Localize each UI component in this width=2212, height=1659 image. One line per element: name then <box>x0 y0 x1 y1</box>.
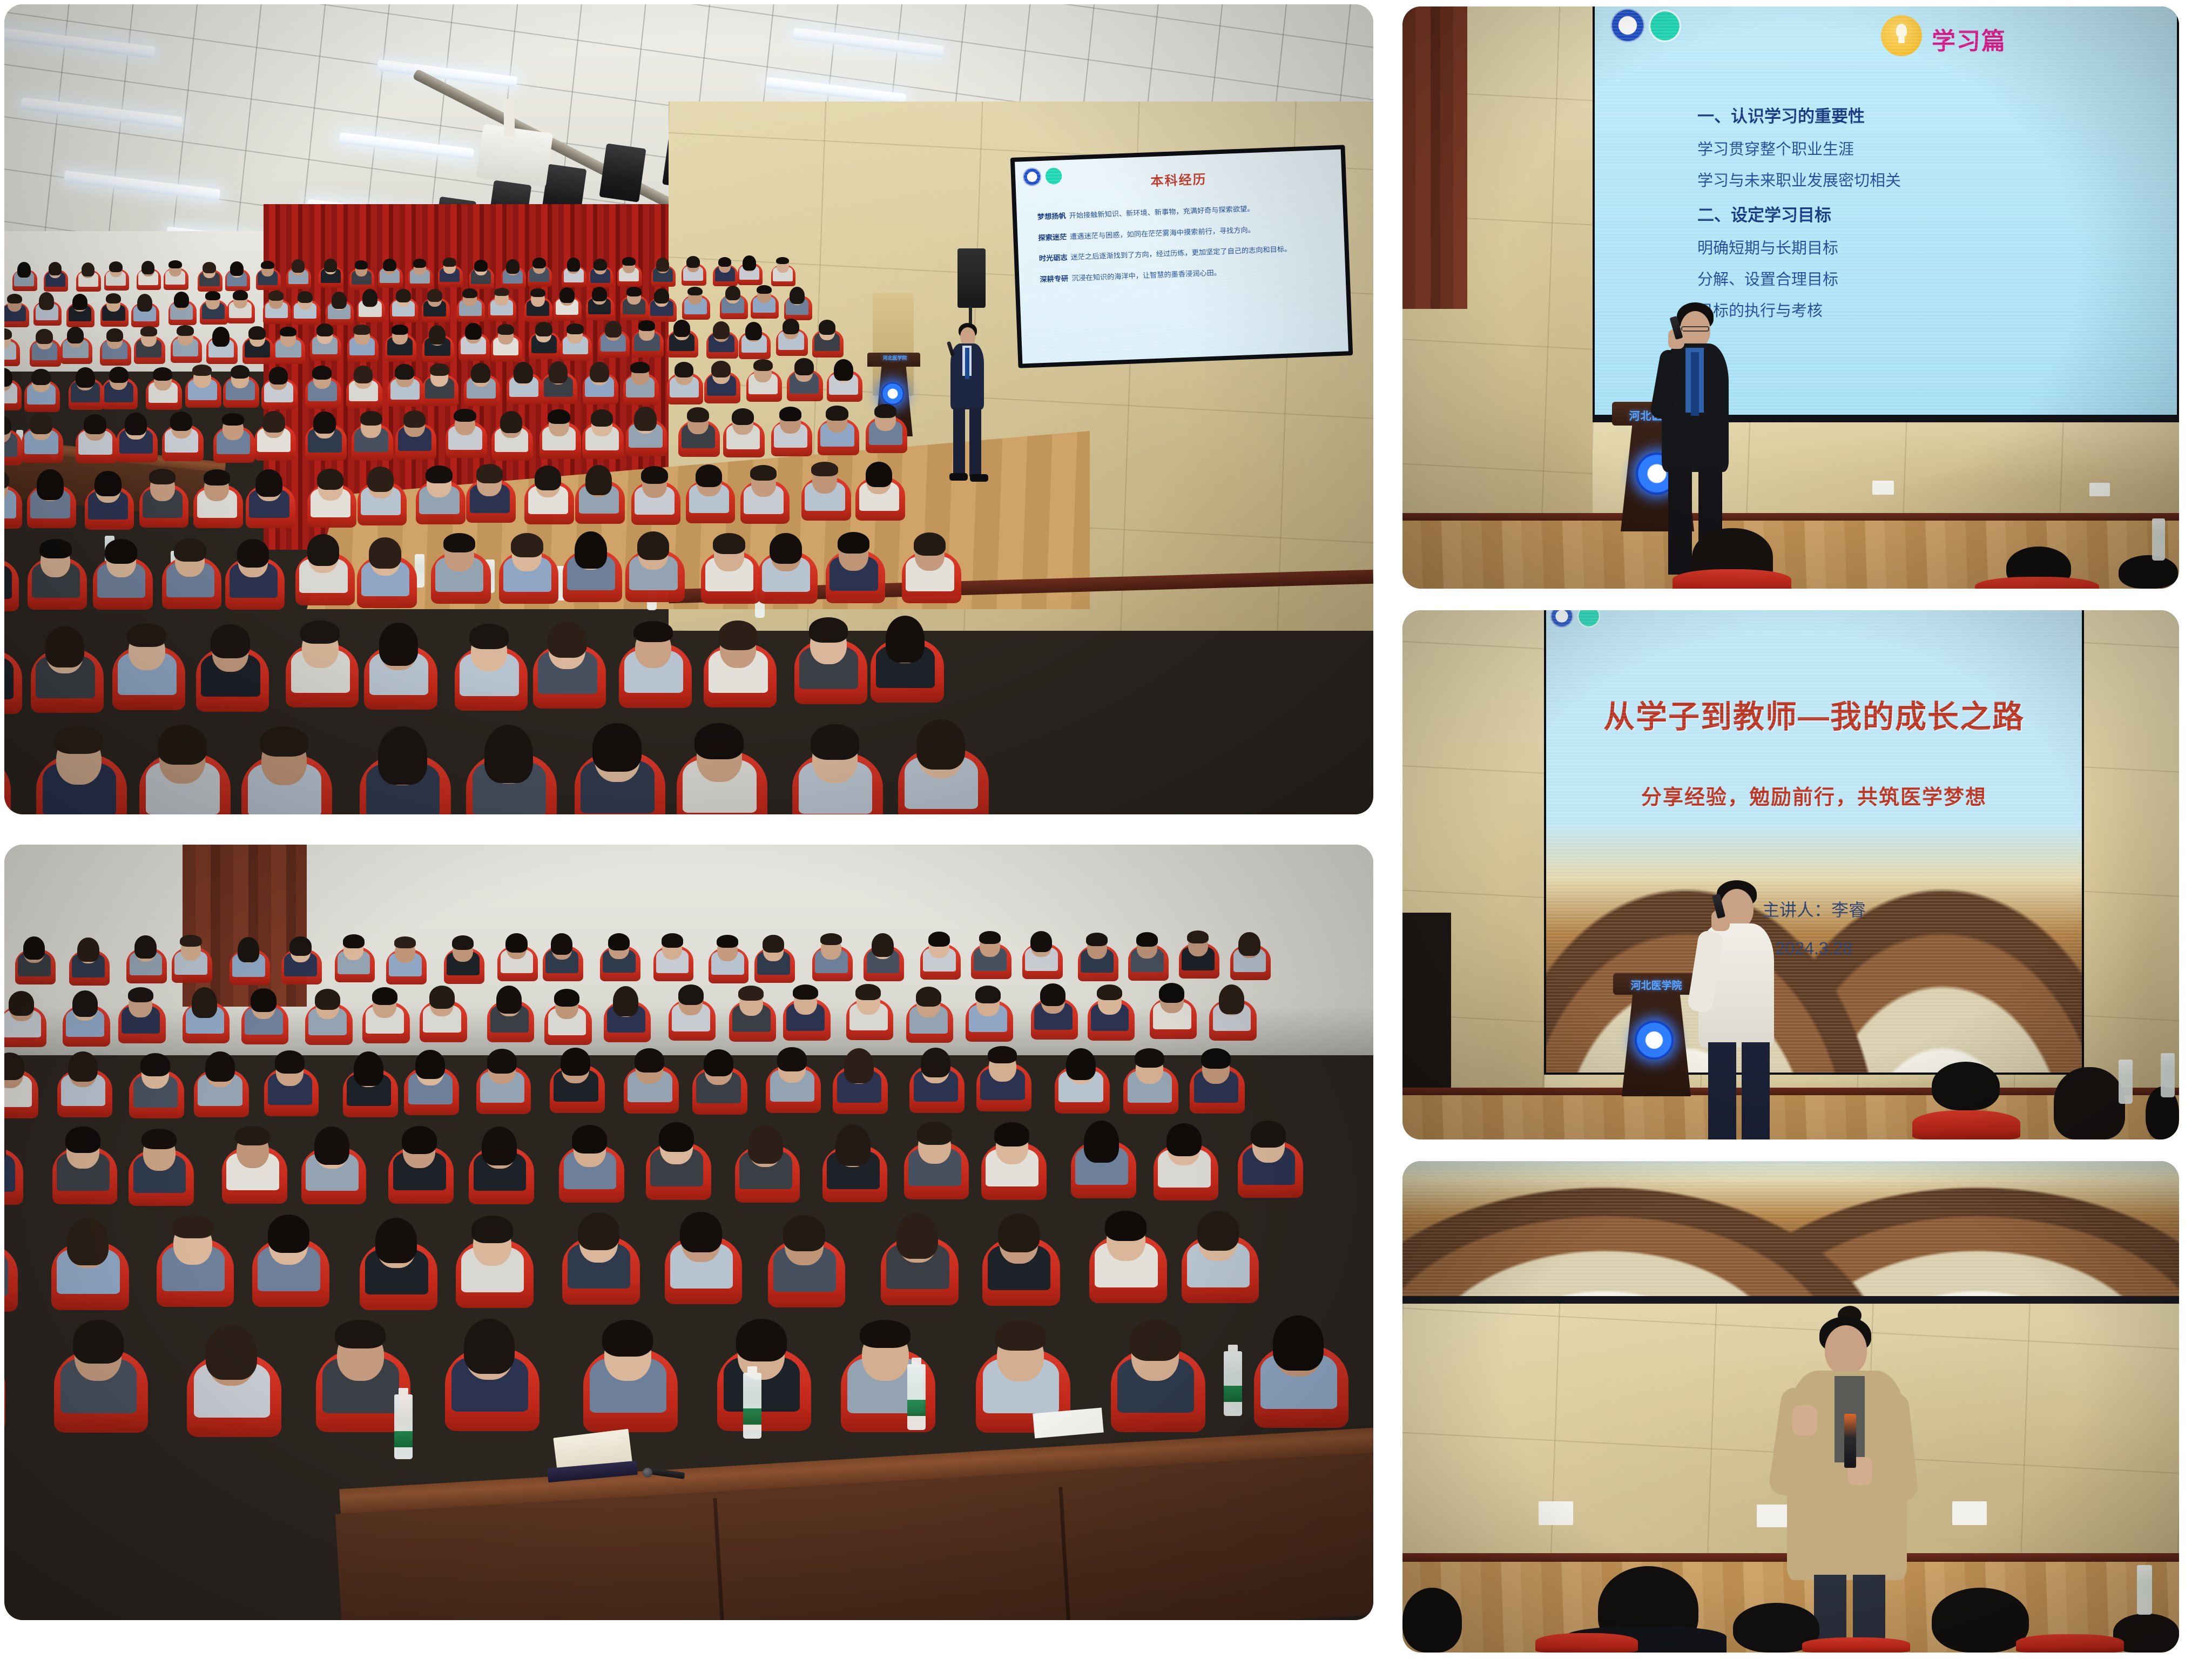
photo-collage: 本科经历 梦想扬帆 开始接触新知识、新环境、新事物，充满好奇与探索欲望。 探索迷… <box>0 0 2212 1659</box>
photo-vignette <box>1402 1161 2179 1653</box>
panel-speaker-study-slide: 学习篇 一、认识学习的重要性 学习贯穿整个职业生涯 学习与未来职业发展密切相关 … <box>1402 6 2179 589</box>
photo-vignette <box>4 4 1373 814</box>
panel-lecture-hall-wide-view: 本科经历 梦想扬帆 开始接触新知识、新环境、新事物，充满好奇与探索欲望。 探索迷… <box>4 4 1373 814</box>
photo-vignette <box>1402 610 2179 1139</box>
panel-female-speaker-view <box>1402 1161 2179 1653</box>
panel-title-slide-speaker: 从学子到教师—我的成长之路 分享经验，勉励前行，共筑医学梦想 主讲人：李睿 20… <box>1402 610 2179 1139</box>
panel-audience-close-view <box>4 845 1373 1620</box>
photo-vignette <box>4 845 1373 1620</box>
photo-vignette <box>1402 6 2179 589</box>
